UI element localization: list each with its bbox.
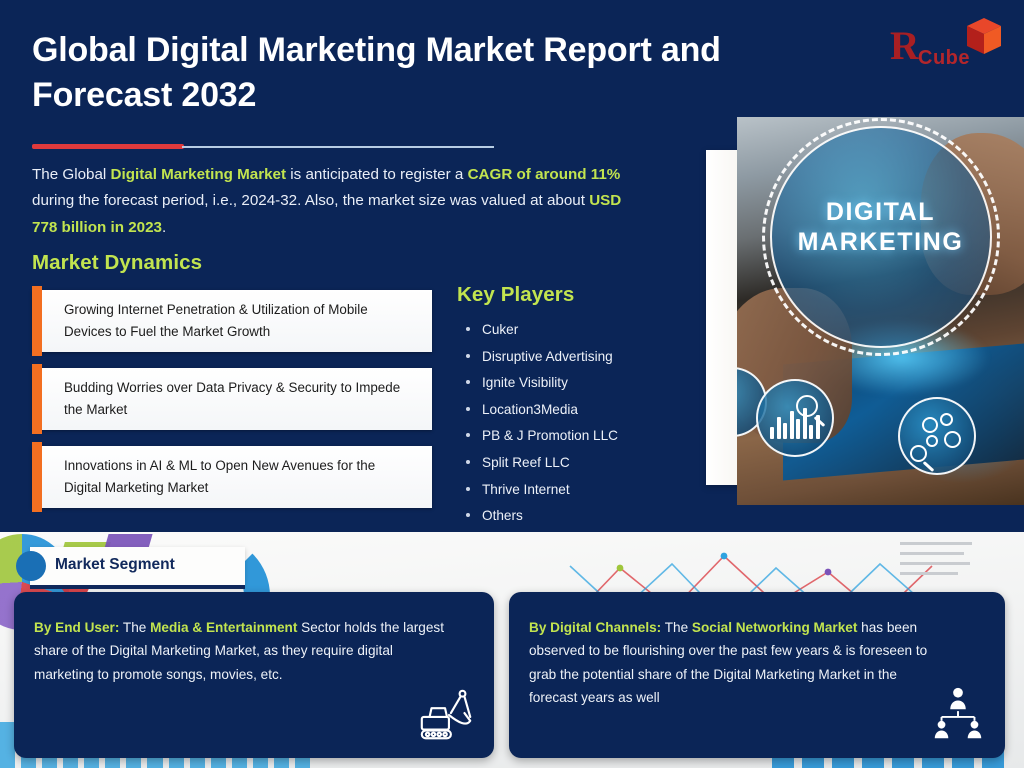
intro-paragraph: The Global Digital Marketing Market is a…: [32, 162, 647, 241]
left-edge-bar: [0, 0, 8, 532]
list-item: Location3Media: [462, 403, 692, 417]
logo-mark: Я: [890, 26, 919, 66]
page-title: Global Digital Marketing Market Report a…: [32, 28, 772, 118]
list-item: Others: [462, 509, 692, 523]
intro-highlight-2: CAGR of around 11%: [468, 166, 621, 183]
top-section: Я Cube Global Digital Marketing Market R…: [0, 0, 1024, 532]
market-dynamics-heading: Market Dynamics: [32, 251, 202, 275]
market-dynamics-card-text: Growing Internet Penetration & Utilizati…: [64, 299, 416, 342]
segment-card-text: By Digital Channels: The Social Networki…: [529, 616, 949, 710]
segment-card-mid: The: [119, 620, 150, 635]
segment-card-highlight: Social Networking Market: [692, 620, 857, 635]
intro-text-1: The Global: [32, 166, 111, 183]
segment-card-mid: The: [661, 620, 692, 635]
card-accent-bar: [32, 364, 42, 434]
list-item: PB & J Promotion LLC: [462, 429, 692, 443]
rcube-logo[interactable]: Я Cube: [890, 10, 1010, 72]
org-hierarchy-icon: [927, 684, 989, 746]
hero-title: DIGITAL MARKETING: [771, 197, 991, 257]
list-item: Cuker: [462, 323, 692, 337]
infographic-page: Я Cube Global Digital Marketing Market R…: [0, 0, 1024, 768]
market-segment-label: Market Segment: [55, 556, 175, 574]
intro-text-2: is anticipated to register a: [286, 166, 468, 183]
segment-card-text: By End User: The Media & Entertainment S…: [34, 616, 454, 686]
market-dynamics-list: Growing Internet Penetration & Utilizati…: [32, 290, 432, 524]
segment-card-end-user: By End User: The Media & Entertainment S…: [14, 592, 494, 758]
market-dynamics-card: Innovations in AI & ML to Open New Avenu…: [32, 446, 432, 508]
list-item: Ignite Visibility: [462, 376, 692, 390]
hero-title-line-1: DIGITAL: [771, 197, 991, 227]
magnifier-glyph: [796, 395, 818, 417]
segment-card-lead: By End User:: [34, 620, 119, 635]
logo-text: Cube: [918, 48, 970, 68]
list-item: Split Reef LLC: [462, 456, 692, 470]
card-accent-bar: [32, 442, 42, 512]
key-players-list: Cuker Disruptive Advertising Ignite Visi…: [462, 323, 692, 536]
intro-text-3: during the forecast period, i.e., 2024-3…: [32, 192, 589, 209]
magnifier-glyph: [910, 445, 927, 462]
intro-highlight-1: Digital Marketing Market: [111, 166, 287, 183]
gears-magnifier-icon: [898, 397, 976, 475]
market-dynamics-card: Budding Worries over Data Privacy & Secu…: [32, 368, 432, 430]
intro-text-4: .: [162, 219, 166, 236]
list-item: Disruptive Advertising: [462, 350, 692, 364]
segment-card-lead: By Digital Channels:: [529, 620, 661, 635]
market-dynamics-card-text: Innovations in AI & ML to Open New Avenu…: [64, 455, 416, 498]
card-accent-bar: [32, 286, 42, 356]
segment-card-highlight: Media & Entertainment: [150, 620, 297, 635]
market-segment-tab-underline: [30, 585, 245, 589]
hero-title-line-2: MARKETING: [771, 227, 991, 257]
hero-image: DIGITAL MARKETING: [737, 117, 1024, 505]
key-players-heading: Key Players: [457, 283, 574, 307]
excavator-icon: [416, 684, 478, 746]
market-dynamics-card-text: Budding Worries over Data Privacy & Secu…: [64, 377, 416, 420]
title-divider: [32, 144, 494, 149]
segment-card-digital-channels: By Digital Channels: The Social Networki…: [509, 592, 1005, 758]
cube-icon: [964, 16, 1004, 58]
divider-thin-line: [182, 146, 494, 148]
market-dynamics-card: Growing Internet Penetration & Utilizati…: [32, 290, 432, 352]
list-item: Thrive Internet: [462, 483, 692, 497]
divider-red-segment: [32, 144, 184, 149]
bar-chart-magnifier-icon: [756, 379, 834, 457]
market-segment-dot: [16, 551, 46, 581]
